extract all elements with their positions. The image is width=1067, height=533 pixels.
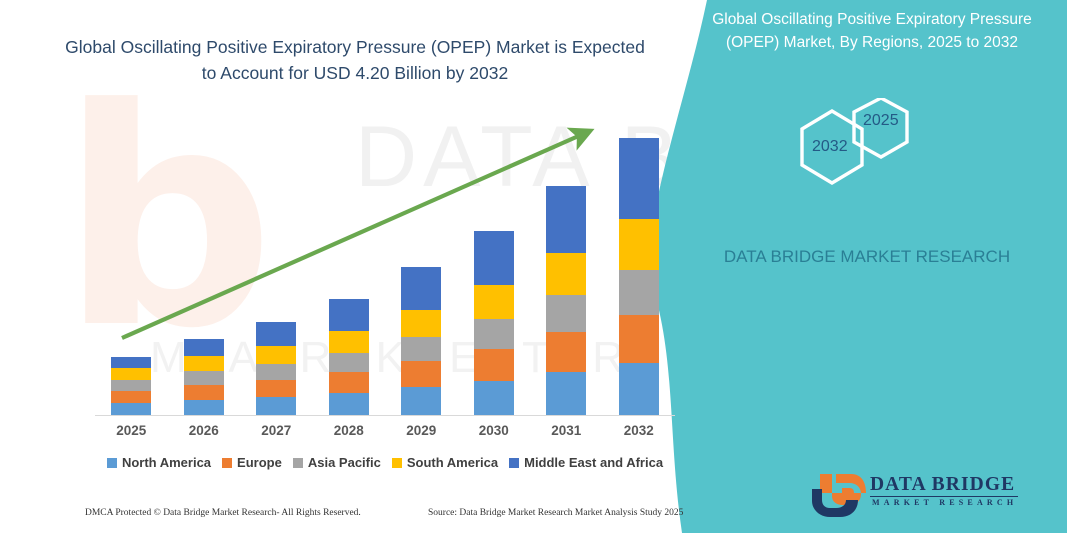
- legend-label: North America: [122, 455, 211, 470]
- logo-b-icon: [810, 472, 866, 518]
- x-axis-labels: 20252026202720282029203020312032: [95, 423, 675, 445]
- x-axis-label-2029: 2029: [385, 423, 457, 438]
- hexagon-group: 2032 2025: [757, 98, 997, 208]
- bar-segment: [401, 310, 441, 337]
- bar-segment: [401, 387, 441, 416]
- chart-legend: North AmericaEuropeAsia PacificSouth Ame…: [95, 455, 675, 470]
- x-axis-label-2030: 2030: [458, 423, 530, 438]
- legend-label: Asia Pacific: [308, 455, 381, 470]
- bar-segment: [546, 253, 586, 295]
- legend-swatch-icon: [392, 458, 402, 468]
- legend-item[interactable]: South America: [392, 455, 498, 470]
- x-axis-label-2027: 2027: [240, 423, 312, 438]
- bar-segment: [474, 319, 514, 349]
- bars-plot-area: [95, 120, 675, 416]
- bar-segment: [184, 400, 224, 416]
- bar-segment: [256, 346, 296, 364]
- bar-segment: [111, 391, 151, 403]
- panel-title: Global Oscillating Positive Expiratory P…: [692, 8, 1052, 54]
- bar-2025[interactable]: [111, 357, 151, 416]
- hexagon-label-2025: 2025: [863, 112, 899, 130]
- bar-segment: [401, 267, 441, 310]
- x-axis-label-2031: 2031: [530, 423, 602, 438]
- bar-segment: [111, 380, 151, 391]
- x-axis-line: [95, 415, 675, 416]
- chart-panel: Global Oscillating Positive Expiratory P…: [0, 0, 740, 533]
- x-axis-label-2028: 2028: [313, 423, 385, 438]
- bar-segment: [329, 331, 369, 353]
- bar-segment: [329, 299, 369, 331]
- bar-segment: [401, 337, 441, 361]
- right-panel-content: Global Oscillating Positive Expiratory P…: [647, 0, 1067, 533]
- logo-name-text: DATA BRIDGE: [870, 474, 1015, 496]
- bar-segment: [329, 372, 369, 393]
- legend-swatch-icon: [107, 458, 117, 468]
- bar-segment: [111, 368, 151, 380]
- bar-segment: [474, 231, 514, 285]
- x-axis-label-2026: 2026: [168, 423, 240, 438]
- bar-segment: [329, 393, 369, 416]
- bar-segment: [474, 285, 514, 319]
- bar-segment: [256, 397, 296, 416]
- bar-segment: [546, 186, 586, 253]
- legend-label: Middle East and Africa: [524, 455, 663, 470]
- legend-label: Europe: [237, 455, 282, 470]
- legend-item[interactable]: Middle East and Africa: [509, 455, 663, 470]
- bar-segment: [546, 372, 586, 416]
- bar-segment: [401, 361, 441, 387]
- bar-2027[interactable]: [256, 322, 296, 416]
- legend-item[interactable]: North America: [107, 455, 211, 470]
- bar-segment: [256, 364, 296, 380]
- logo-subtitle-text: MARKET RESEARCH: [872, 498, 1017, 507]
- bar-segment: [474, 349, 514, 381]
- bar-2029[interactable]: [401, 267, 441, 416]
- footer-copyright: DMCA Protected © Data Bridge Market Rese…: [85, 508, 361, 518]
- bar-segment: [546, 295, 586, 332]
- bar-2031[interactable]: [546, 186, 586, 416]
- legend-item[interactable]: Asia Pacific: [293, 455, 381, 470]
- bar-segment: [184, 356, 224, 371]
- bar-2028[interactable]: [329, 299, 369, 416]
- bar-segment: [329, 353, 369, 372]
- bar-segment: [111, 357, 151, 368]
- legend-item[interactable]: Europe: [222, 455, 282, 470]
- chart-title: Global Oscillating Positive Expiratory P…: [60, 34, 650, 86]
- legend-swatch-icon: [222, 458, 232, 468]
- bar-segment: [474, 381, 514, 416]
- bar-segment: [256, 322, 296, 346]
- hexagon-label-2032: 2032: [812, 138, 848, 156]
- bar-segment: [184, 371, 224, 385]
- bar-2026[interactable]: [184, 339, 224, 416]
- x-axis-label-2025: 2025: [95, 423, 167, 438]
- footer-source: Source: Data Bridge Market Research Mark…: [428, 508, 683, 518]
- legend-swatch-icon: [293, 458, 303, 468]
- market-report-infographic: b DATA BRIDGE M A R K E T R E S E A R C …: [0, 0, 1067, 533]
- legend-swatch-icon: [509, 458, 519, 468]
- bar-segment: [256, 380, 296, 397]
- legend-label: South America: [407, 455, 498, 470]
- bar-2030[interactable]: [474, 231, 514, 416]
- bar-segment: [184, 385, 224, 400]
- data-bridge-logo: DATA BRIDGE MARKET RESEARCH: [810, 472, 1040, 520]
- bar-segment: [184, 339, 224, 356]
- brand-name-text: DATA BRIDGE MARKET RESEARCH: [697, 244, 1037, 269]
- bar-segment: [546, 332, 586, 372]
- logo-divider: [870, 496, 1018, 497]
